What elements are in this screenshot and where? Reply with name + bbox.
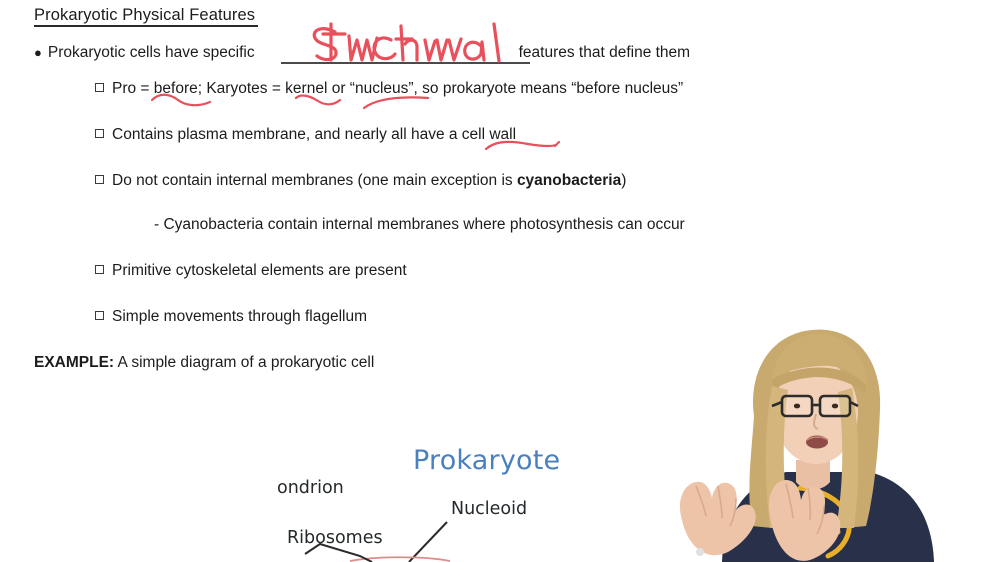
prokaryote-diagram: Prokaryote ondrion Nucleoid Ribosomes <box>0 430 700 562</box>
eye-left <box>794 404 800 409</box>
neck <box>796 460 830 490</box>
emphasis-term: cyanobacteria <box>517 172 621 189</box>
list-item-text-tail: ) <box>621 172 626 189</box>
checkbox-square-icon <box>95 265 104 274</box>
checkbox-square-icon <box>95 175 104 184</box>
checkbox-square-icon <box>95 129 104 138</box>
title-underline <box>34 25 258 27</box>
ring <box>696 548 704 556</box>
list-item-text: Do not contain internal membranes (one m… <box>112 172 517 189</box>
list-item: Do not contain internal membranes (one m… <box>95 171 626 190</box>
list-item: Pro = before; Karyotes = kernel or “nucl… <box>95 79 683 98</box>
page-title: Prokaryotic Physical Features <box>34 5 255 25</box>
list-item-text: Primitive cytoskeletal elements are pres… <box>112 262 407 279</box>
bullet-dot-icon: ● <box>34 43 48 62</box>
lecture-slide: Prokaryotic Physical Features ●Prokaryot… <box>0 0 1000 562</box>
diagram-leader-lines <box>0 430 700 562</box>
example-line: EXAMPLE: A simple diagram of a prokaryot… <box>34 353 374 372</box>
sub-list-item: - Cyanobacteria contain internal membran… <box>154 215 685 234</box>
sub-list-item-text: - Cyanobacteria contain internal membran… <box>154 216 685 233</box>
list-item-text: Simple movements through flagellum <box>112 308 367 325</box>
list-item-text-before: Prokaryotic cells have specific <box>48 44 255 61</box>
presenter-video-overlay <box>660 320 1000 562</box>
example-text: A simple diagram of a prokaryotic cell <box>114 354 374 371</box>
list-item: Contains plasma membrane, and nearly all… <box>95 125 516 144</box>
checkbox-square-icon <box>95 83 104 92</box>
list-item: Primitive cytoskeletal elements are pres… <box>95 261 407 280</box>
list-item-text: Pro = before; Karyotes = kernel or “nucl… <box>112 80 683 97</box>
list-item-text-after: features that define them <box>519 44 690 61</box>
eye-right <box>832 404 838 409</box>
fill-in-blank-line <box>281 62 530 64</box>
example-label: EXAMPLE: <box>34 354 114 371</box>
list-item: ●Prokaryotic cells have specificfeatures… <box>34 43 690 62</box>
list-item: Simple movements through flagellum <box>95 307 367 326</box>
underline-ink-nucleus <box>362 95 432 115</box>
list-item-text: Contains plasma membrane, and nearly all… <box>112 126 516 143</box>
checkbox-square-icon <box>95 311 104 320</box>
presenter-figure <box>660 320 1000 562</box>
